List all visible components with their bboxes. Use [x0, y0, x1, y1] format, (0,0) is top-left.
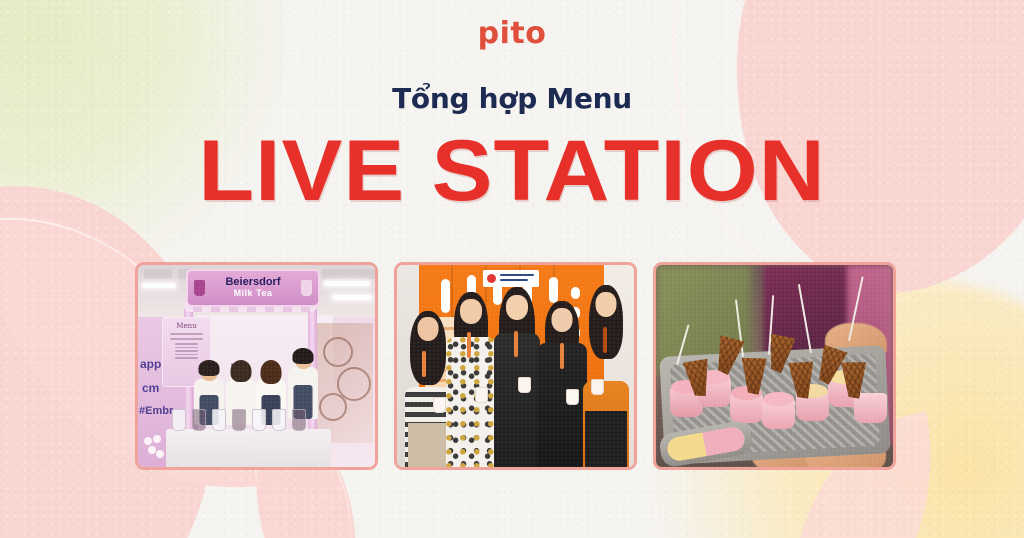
group-person: [445, 292, 497, 467]
ceiling-panel: [350, 269, 375, 279]
menu-card-line: [175, 343, 198, 345]
logo-text-line: [500, 274, 534, 276]
backdrop-logo-card: [483, 270, 539, 287]
gallery-photo-ice-cream-tray: [653, 262, 896, 470]
ceiling-lamp: [324, 281, 370, 286]
boba-cup-icon: [301, 280, 312, 296]
group-person: [581, 285, 631, 467]
rack-ring: [319, 393, 347, 421]
signboard-product: Milk Tea: [234, 288, 273, 299]
ceiling-lamp: [142, 283, 176, 288]
ceiling-lamp: [332, 295, 372, 300]
lanyard: [467, 332, 471, 358]
photo-group-scene: [397, 265, 634, 467]
photo-ice-cream-scene: [656, 265, 893, 467]
wall-wordart: cm: [142, 381, 159, 395]
lanyard: [603, 327, 607, 353]
photo-milk-tea-scene: Beiersdorf Milk Tea Menu app cm #Embr E: [138, 265, 375, 467]
wall-wordart: app: [140, 357, 161, 371]
drink-cup: [252, 409, 266, 431]
decor-rack: [317, 323, 373, 443]
logo-text-line: [500, 279, 528, 281]
menu-card-line: [175, 347, 198, 349]
ice-cream-cup: [730, 393, 763, 423]
ceiling-panel: [144, 269, 172, 279]
drink-cup: [292, 409, 306, 431]
menu-card-line: [175, 354, 198, 356]
drink-cup: [172, 409, 186, 431]
lanyard: [514, 331, 518, 357]
ice-cream-cup: [762, 399, 795, 429]
cup-row: [172, 409, 306, 431]
signboard-brand: Beiersdorf: [225, 277, 280, 289]
ceiling-panel: [322, 269, 350, 279]
booth-signboard: Beiersdorf Milk Tea: [186, 269, 320, 307]
wall-wordart: #Embr: [139, 405, 173, 417]
logo-dot-icon: [487, 274, 496, 283]
menu-card-line: [175, 357, 198, 359]
poster-canvas: pito Tổng hợp Menu LIVE STATION: [0, 0, 1024, 538]
photo-gallery: Beiersdorf Milk Tea Menu app cm #Embr E: [135, 262, 896, 470]
drink-cup: [272, 409, 286, 431]
page-title: LIVE STATION: [0, 128, 1024, 214]
drink-cup: [232, 409, 246, 431]
held-cup: [475, 387, 488, 403]
held-cup: [591, 379, 604, 395]
gallery-photo-milk-tea-booth: Beiersdorf Milk Tea Menu app cm #Embr E: [135, 262, 378, 470]
group-person: [492, 287, 542, 467]
boba-cup-icon: [194, 280, 205, 296]
lanyard: [422, 351, 426, 377]
lanyard: [560, 343, 564, 369]
held-cup: [566, 389, 579, 405]
decor-flowers: [144, 435, 166, 463]
drink-cup: [192, 409, 206, 431]
rack-ring: [323, 337, 353, 367]
page-subtitle: Tổng hợp Menu: [0, 82, 1024, 115]
gallery-photo-orange-backdrop-group: [394, 262, 637, 470]
pito-logo: pito: [0, 19, 1024, 49]
held-cup: [518, 377, 531, 393]
menu-card-line: [170, 338, 203, 340]
menu-card-line: [175, 350, 198, 352]
menu-card-line: [170, 333, 203, 335]
drink-cup: [212, 409, 226, 431]
booth-counter: [166, 429, 331, 467]
menu-card-title: Menu: [163, 322, 210, 330]
